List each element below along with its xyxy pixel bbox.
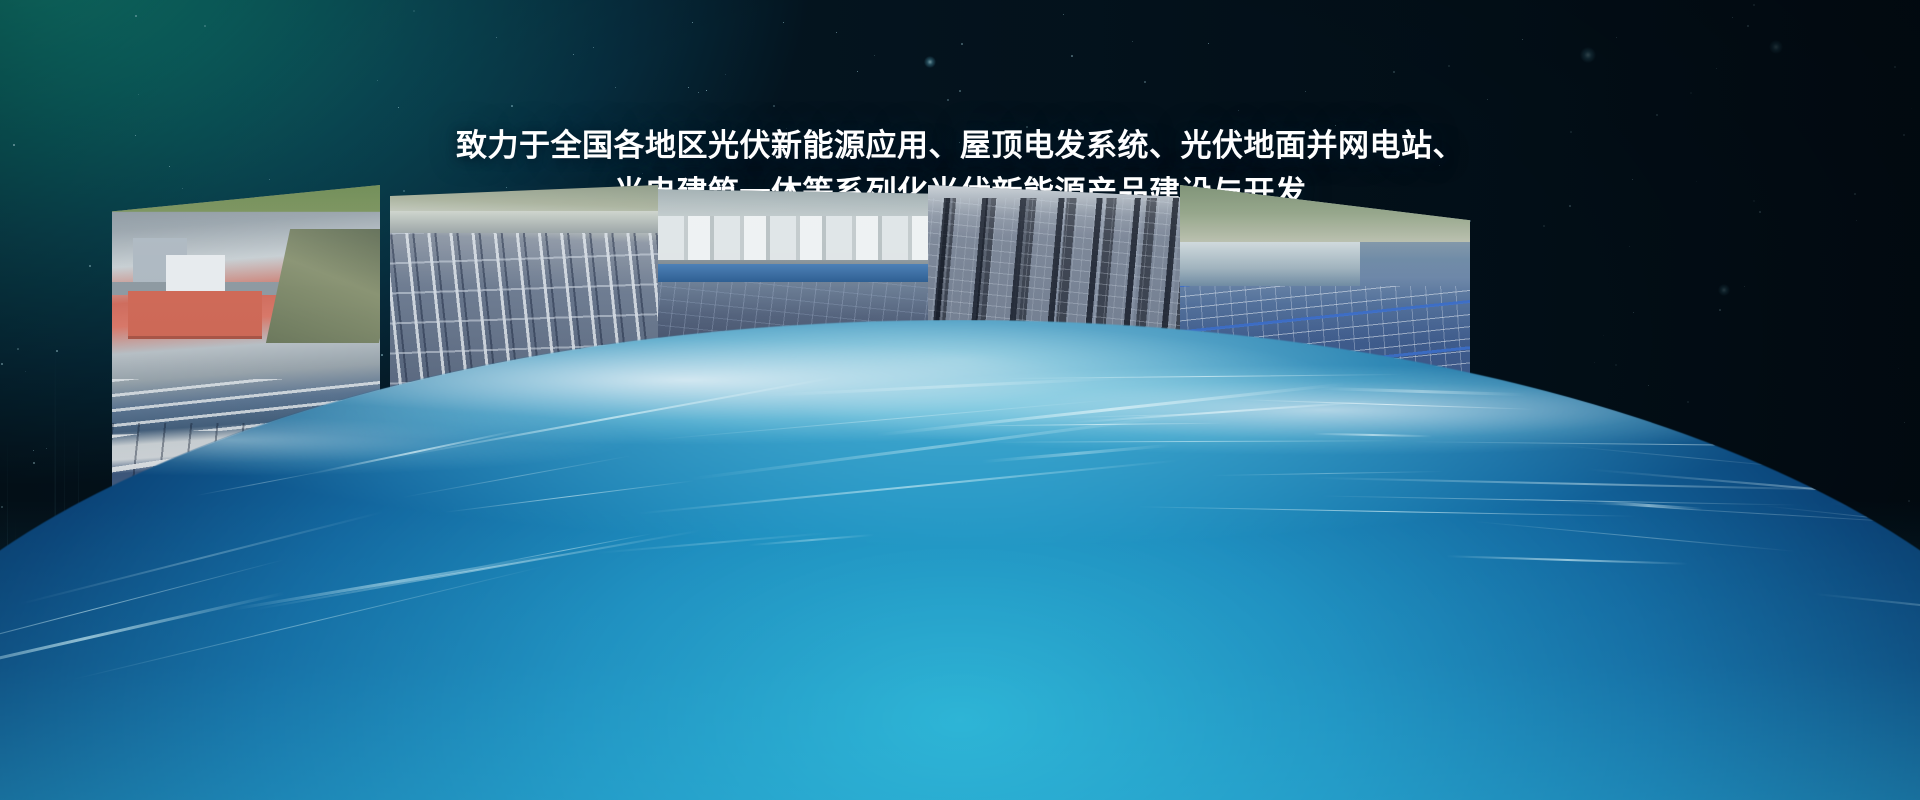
headline-line-1: 致力于全国各地区光伏新能源应用、屋顶电发系统、光伏地面并网电站、 — [0, 122, 1920, 169]
earth-arc-glow — [0, 320, 1920, 800]
promo-banner: 致力于全国各地区光伏新能源应用、屋顶电发系统、光伏地面并网电站、 光电建筑一体等… — [0, 0, 1920, 800]
